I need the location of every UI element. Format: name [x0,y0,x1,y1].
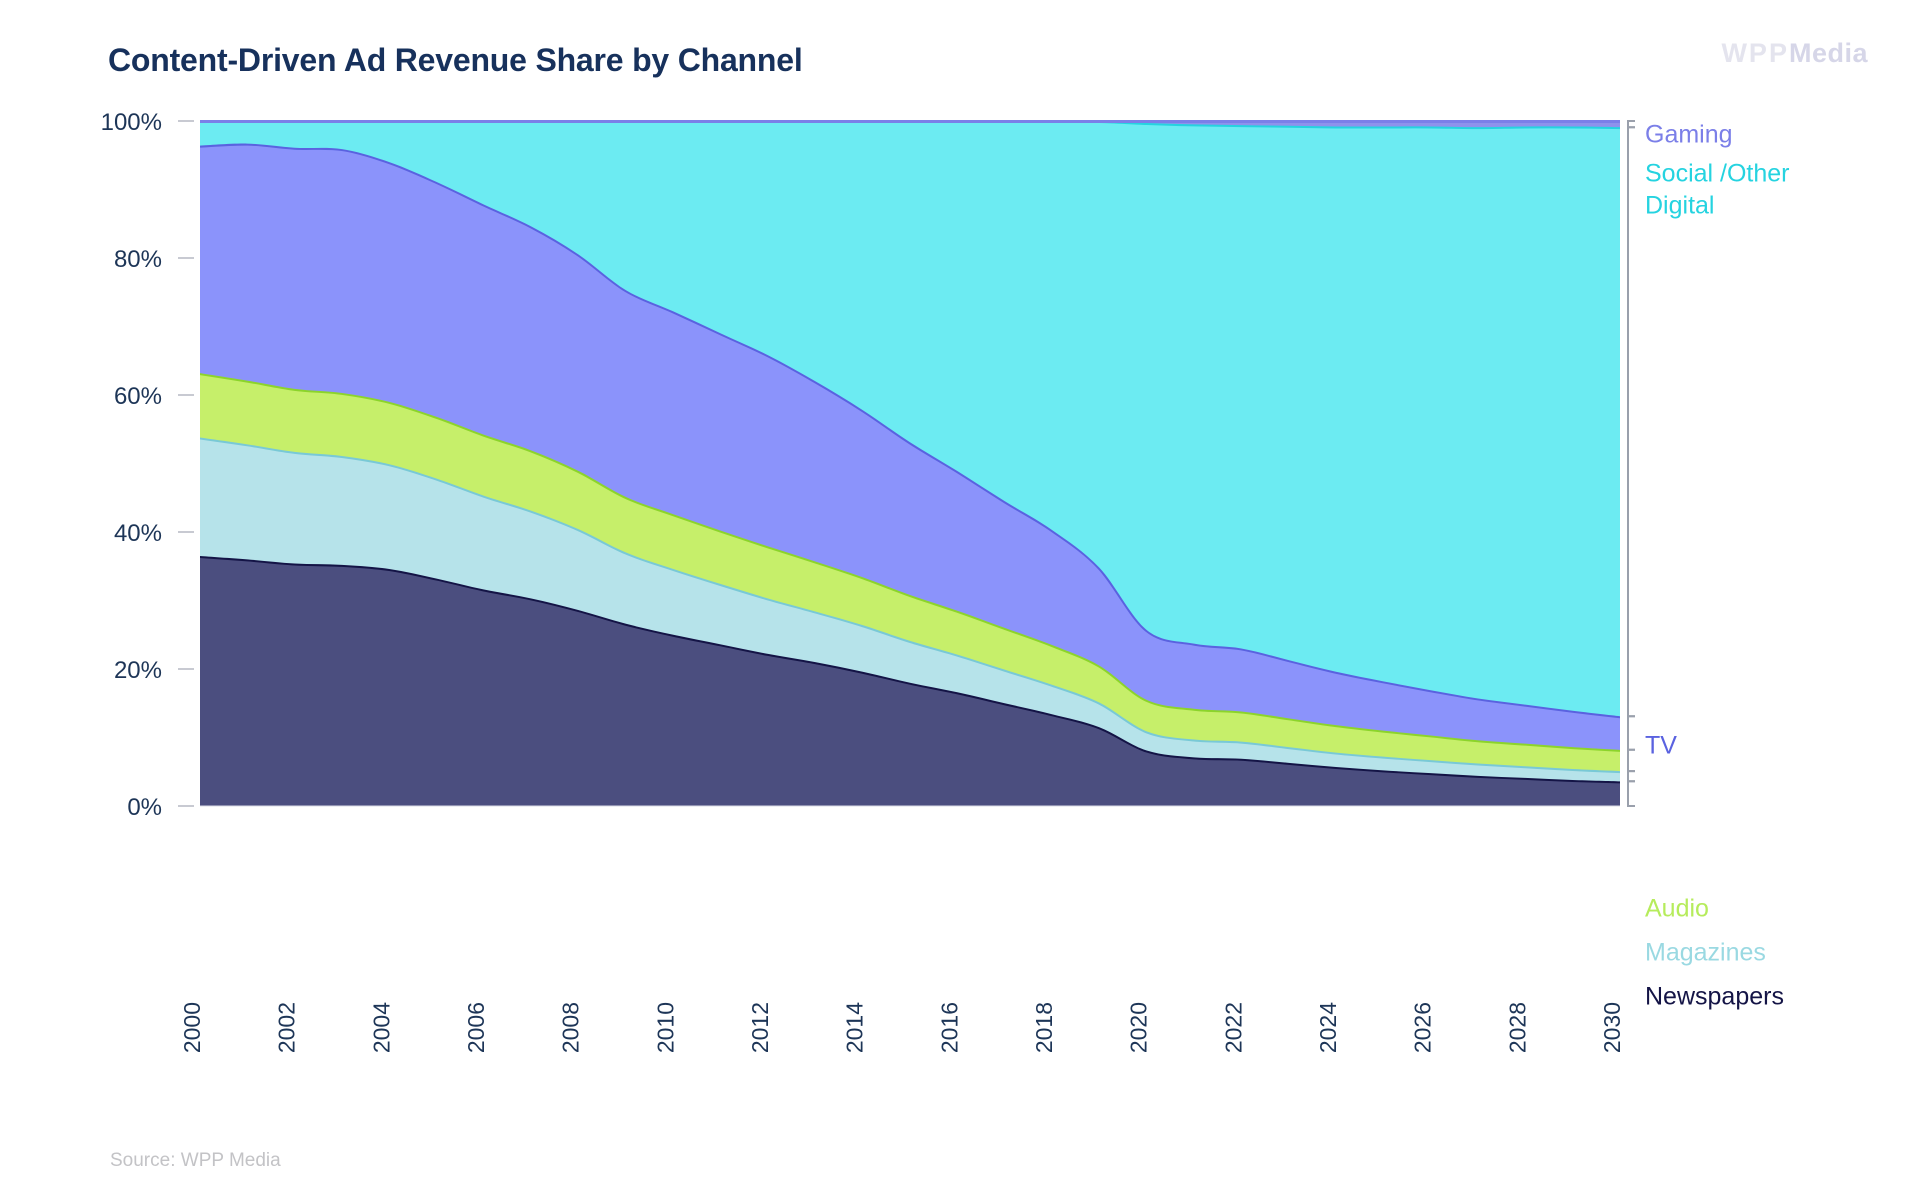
y-tick-label: 60% [114,383,162,410]
legend-bracket [1628,781,1635,806]
x-tick-label: 2018 [1031,1002,1057,1053]
y-tick-label: 80% [114,246,162,273]
legend-bracket [1628,750,1635,771]
legend-label-newspapers: Newspapers [1645,983,1784,1011]
x-tick-label: 2002 [274,1002,300,1053]
x-tick-label: 2012 [747,1002,773,1053]
y-axis-ticks-group: 0%20%40%60%80%100% [101,109,194,821]
legend-bracket [1628,127,1635,716]
legend-label-magazines: Magazines [1645,939,1766,967]
x-tick-label: 2022 [1220,1002,1246,1053]
x-axis-ticks-group: 2000200220042006200820102012201420162018… [179,1002,1625,1053]
legend-label-gaming: Gaming [1645,121,1733,149]
y-tick-label: 20% [114,657,162,684]
stacked-area-chart: 0%20%40%60%80%100% 200020022004200620082… [0,0,1920,1200]
legend-label-tv: TV [1645,732,1677,760]
x-tick-label: 2030 [1599,1002,1625,1053]
x-tick-label: 2008 [558,1002,584,1053]
x-tick-label: 2028 [1504,1002,1530,1053]
x-tick-label: 2000 [179,1002,205,1053]
x-tick-label: 2024 [1315,1002,1341,1053]
legend-label-social-other-digital: Social /Other [1645,160,1790,188]
x-tick-label: 2020 [1126,1002,1152,1053]
x-tick-label: 2004 [368,1002,394,1053]
legend-bracket [1628,716,1635,750]
legend-label-social-other-digital-line2: Digital [1645,192,1714,220]
legend-group: GamingSocial /OtherDigitalTVAudioMagazin… [1628,121,1790,1011]
legend-bracket [1628,771,1635,781]
x-tick-label: 2026 [1410,1002,1436,1053]
x-tick-label: 2014 [842,1002,868,1053]
x-tick-label: 2010 [652,1002,678,1053]
legend-label-audio: Audio [1645,895,1709,923]
x-tick-label: 2006 [463,1002,489,1053]
chart-plot-area: 0%20%40%60%80%100% 200020022004200620082… [0,0,1920,1200]
area-series-group [200,121,1620,806]
y-tick-label: 40% [114,520,162,547]
y-tick-label: 100% [101,109,162,136]
y-tick-label: 0% [127,794,162,821]
chart-page: Content-Driven Ad Revenue Share by Chann… [0,0,1920,1200]
x-tick-label: 2016 [936,1002,962,1053]
